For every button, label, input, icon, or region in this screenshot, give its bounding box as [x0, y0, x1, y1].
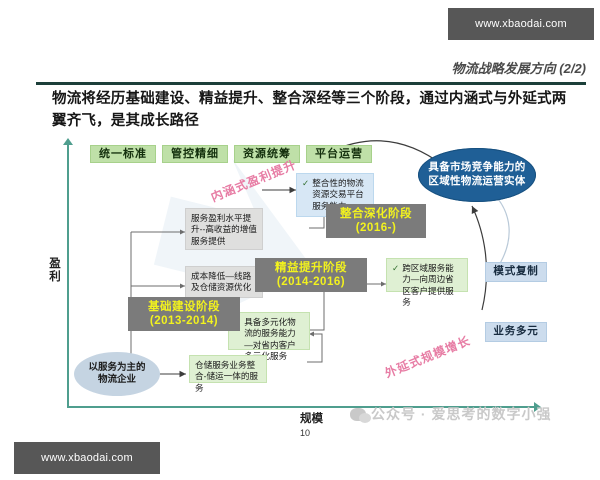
capability-box-crossregion: ✓ 跨区域服务能力—向周边省区客户提供服务 [386, 258, 468, 292]
enabler-box-2: 管控精细 [162, 145, 228, 163]
start-node-oval: 以服务为主的 物流企业 [74, 352, 160, 396]
capability-text: 跨区域服务能力—向周边省区客户提供服务 [402, 263, 462, 308]
right-tag-model-replication: 模式复制 [485, 262, 547, 282]
stage-name: 整合深化阶段 [340, 207, 412, 221]
capability-box-cost: 成本降低—线路及仓储资源优化 [185, 266, 263, 298]
check-icon: ✓ [302, 178, 309, 189]
stage-period: (2014-2016) [277, 275, 345, 289]
check-icon: ✓ [392, 263, 399, 274]
start-node-line-1: 以服务为主的 [88, 362, 145, 374]
goal-node-line-2: 区域性物流运营实体 [428, 175, 525, 189]
stage-name: 精益提升阶段 [275, 261, 347, 275]
stage-period: (2016-) [356, 221, 397, 235]
start-node-line-2: 物流企业 [98, 374, 136, 386]
slide-canvas: www.xbaodai.com www.xbaodai.com 物流战略发展方向… [0, 0, 600, 480]
enabler-box-4: 平台运营 [306, 145, 372, 163]
stage-label-lean: 精益提升阶段 (2014-2016) [255, 258, 367, 292]
enabler-box-1: 统一标准 [90, 145, 156, 163]
capability-box-diversified: ✓ 具备多元化物流的服务能力—对省内客户多元化服务 [228, 312, 310, 350]
goal-node-oval: 具备市场竞争能力的 区域性物流运营实体 [418, 148, 536, 202]
wechat-watermark-text: 公众号 · 爱思考的数字小强 [371, 404, 551, 424]
stage-period: (2013-2014) [150, 314, 218, 328]
stage-label-integration: 整合深化阶段 (2016-) [326, 204, 426, 238]
stage-label-foundation: 基础建设阶段 (2013-2014) [128, 297, 240, 331]
right-tag-business-diversity: 业务多元 [485, 322, 547, 342]
capability-box-profit: 服务盈利水平提升--高收益的增值服务提供 [185, 208, 263, 250]
capability-box-warehouse: 仓储服务业务整合-储运一体的服务 [189, 355, 267, 383]
stage-name: 基础建设阶段 [148, 300, 220, 314]
wechat-watermark: 公众号 · 爱思考的数字小强 [350, 404, 551, 424]
wechat-icon [350, 408, 366, 421]
goal-node-line-1: 具备市场竞争能力的 [428, 161, 525, 175]
